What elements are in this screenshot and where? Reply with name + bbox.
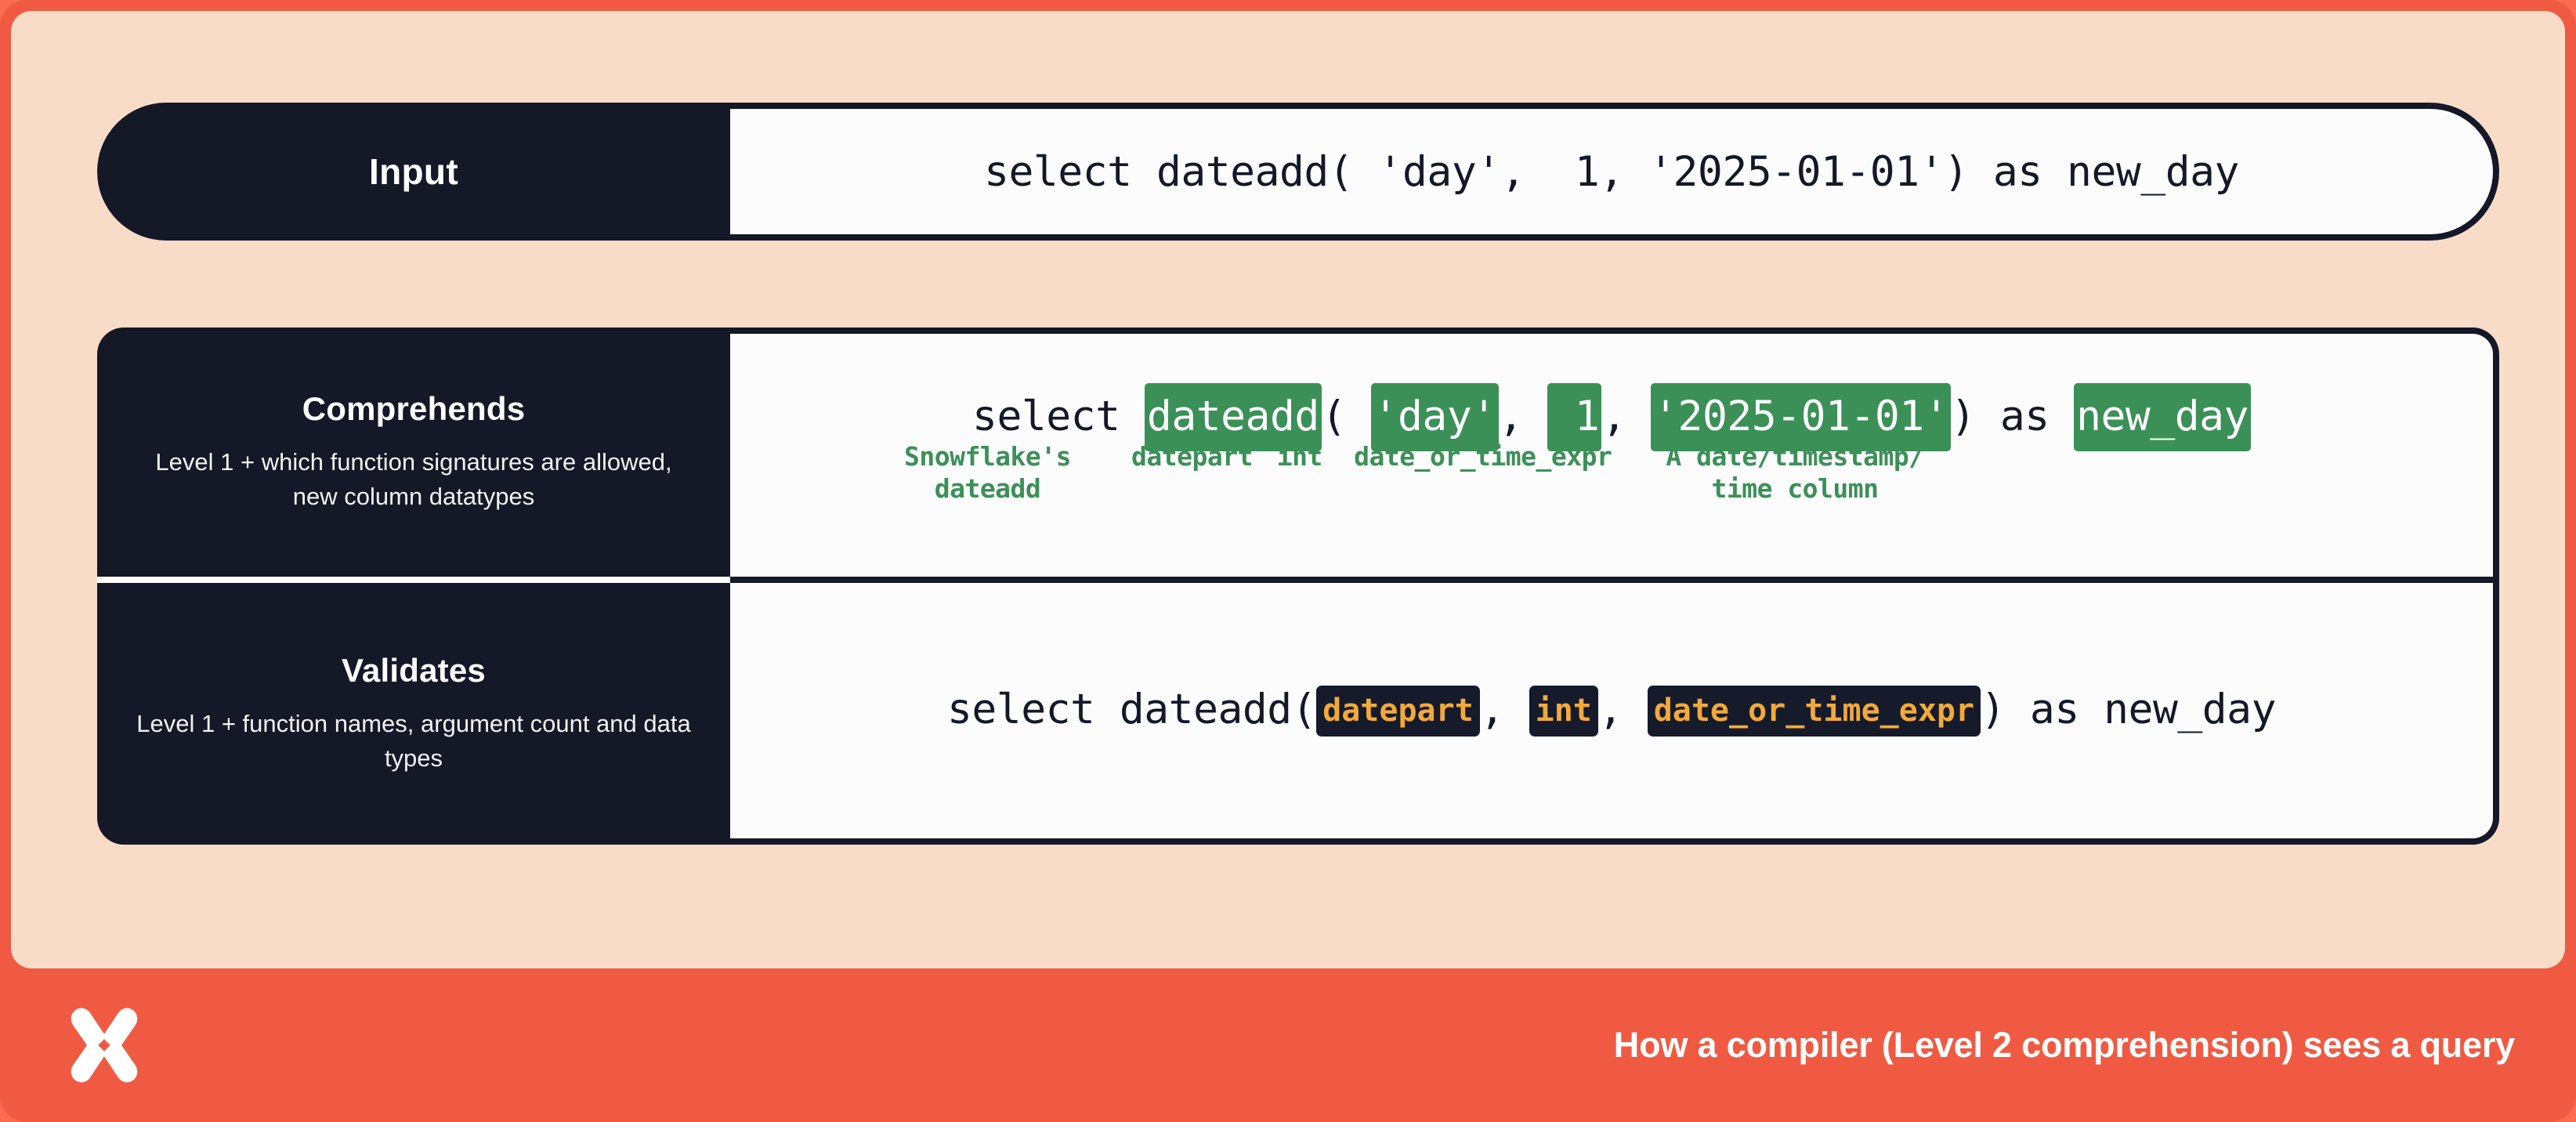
code-token-2: ,	[1480, 686, 1529, 733]
validates-subtitle: Level 1 + function names, argument count…	[133, 707, 694, 776]
code-token-6: ,	[1601, 393, 1651, 440]
code-token-2: (	[1322, 393, 1371, 440]
comprehends-annotations: Snowflake's dateadddatepartintdate_or_ti…	[730, 440, 2493, 519]
comprehends-label: Comprehends Level 1 + which function sig…	[97, 328, 730, 577]
annotation-1: datepart	[1131, 440, 1253, 473]
code-token-4: ,	[1598, 686, 1648, 733]
annotation-0: Snowflake's dateadd	[904, 440, 1071, 505]
levels-panel: Comprehends Level 1 + which function sig…	[97, 328, 2499, 845]
code-token-5: date_or_time_expr	[1648, 686, 1981, 737]
comprehends-code-cell: select dateadd( 'day', 1, '2025-01-01') …	[730, 328, 2499, 577]
comprehends-row: Comprehends Level 1 + which function sig…	[97, 328, 2499, 577]
input-row-label: Input	[97, 103, 730, 241]
footer-bar: How a compiler (Level 2 comprehension) s…	[0, 968, 2576, 1122]
input-row-code: select dateadd( 'day', 1, '2025-01-01') …	[730, 103, 2499, 241]
code-token-1: datepart	[1316, 686, 1480, 737]
validates-row: Validates Level 1 + function names, argu…	[97, 583, 2499, 845]
code-token-6: ) as new_day	[1981, 686, 2276, 733]
comprehends-title: Comprehends	[302, 390, 526, 428]
poster-canvas: Input select dateadd( 'day', 1, '2025-01…	[11, 11, 2565, 968]
annotation-2: int	[1277, 440, 1322, 473]
code-token-0: select	[972, 393, 1145, 440]
validates-title: Validates	[342, 652, 486, 689]
row-divider-left	[97, 577, 730, 583]
validates-code-cell: select dateadd(datepart, int, date_or_ti…	[730, 583, 2499, 845]
input-row: Input select dateadd( 'day', 1, '2025-01…	[97, 103, 2499, 241]
code-token-0: select dateadd(	[947, 686, 1316, 733]
row-divider-right	[730, 577, 2499, 583]
butterfly-x-logo	[61, 1002, 147, 1088]
footer-caption: How a compiler (Level 2 comprehension) s…	[1614, 1025, 2515, 1066]
comprehends-subtitle: Level 1 + which function signatures are …	[133, 445, 694, 514]
code-token-8: ) as	[1951, 393, 2074, 440]
validates-code: select dateadd(datepart, int, date_or_ti…	[947, 686, 2276, 737]
code-token-4: ,	[1499, 393, 1548, 440]
code-token-3: int	[1529, 686, 1598, 737]
row-divider	[97, 577, 2499, 583]
annotation-4: A date/timestamp/ time column	[1666, 440, 1923, 505]
validates-label: Validates Level 1 + function names, argu…	[97, 583, 730, 845]
annotation-3: date_or_time_expr	[1354, 440, 1612, 473]
poster-frame: Input select dateadd( 'day', 1, '2025-01…	[0, 0, 2576, 1122]
comprehends-code: select dateadd( 'day', 1, '2025-01-01') …	[972, 393, 2251, 440]
